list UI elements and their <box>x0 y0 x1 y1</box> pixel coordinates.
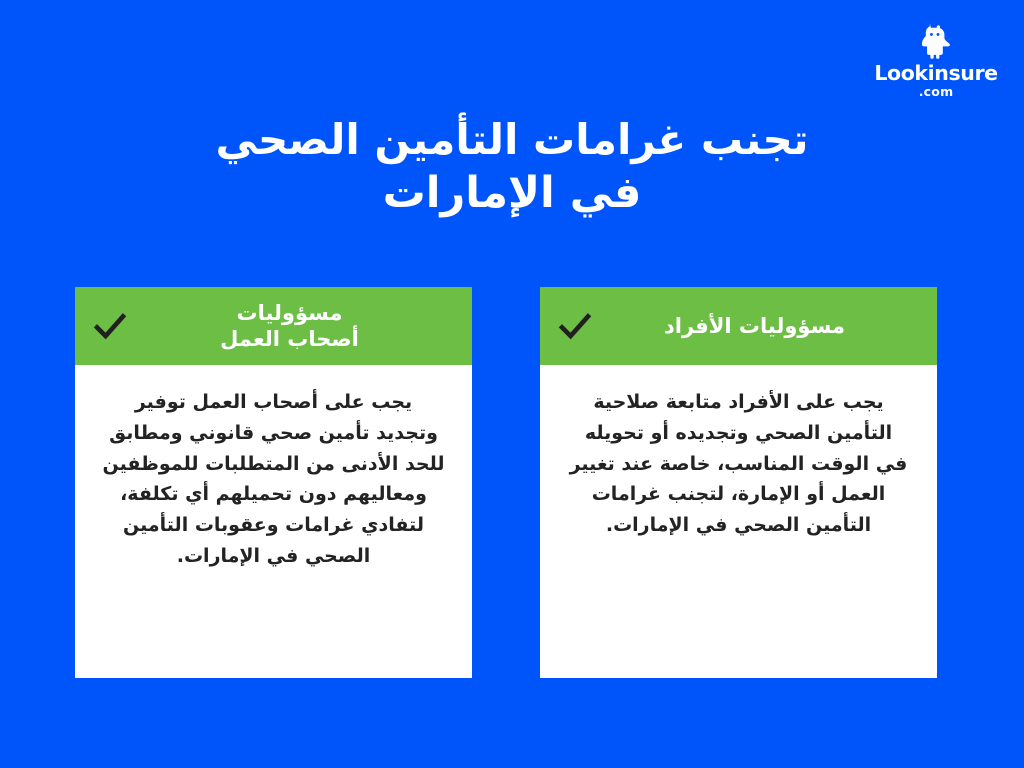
check-icon <box>93 309 127 343</box>
card-employers-body: يجب على أصحاب العمل توفير وتجديد تأمين ص… <box>75 365 472 678</box>
check-icon <box>558 309 592 343</box>
brand-logo[interactable]: Lookinsure .com <box>872 24 1000 98</box>
page-title: تجنب غرامات التأمين الصحي في الإمارات <box>0 116 1024 219</box>
page-title-line-2: في الإمارات <box>0 169 1024 219</box>
card-employers: مسؤوليات أصحاب العمل يجب على أصحاب العمل… <box>75 287 472 678</box>
card-individuals-body-text: يجب على الأفراد متابعة صلاحية التأمين ال… <box>566 387 911 541</box>
card-individuals-header: مسؤوليات الأفراد <box>540 287 937 365</box>
card-individuals-body: يجب على الأفراد متابعة صلاحية التأمين ال… <box>540 365 937 678</box>
owl-icon <box>919 24 953 60</box>
brand-wordmark: Lookinsure <box>874 63 997 84</box>
card-employers-title-line-2: أصحاب العمل <box>127 326 452 352</box>
page-title-line-1: تجنب غرامات التأمين الصحي <box>0 116 1024 165</box>
responsibility-cards: مسؤوليات الأفراد يجب على الأفراد متابعة … <box>75 287 937 678</box>
card-individuals-title-line-1: مسؤوليات الأفراد <box>592 313 917 339</box>
card-employers-title: مسؤوليات أصحاب العمل <box>127 300 458 353</box>
card-employers-header: مسؤوليات أصحاب العمل <box>75 287 472 365</box>
card-employers-body-text: يجب على أصحاب العمل توفير وتجديد تأمين ص… <box>101 387 446 572</box>
card-employers-title-line-1: مسؤوليات <box>127 300 452 326</box>
card-individuals-title: مسؤوليات الأفراد <box>592 313 923 339</box>
infographic-page: { "brand": { "logo_icon": "owl-icon", "w… <box>0 0 1024 768</box>
card-individuals: مسؤوليات الأفراد يجب على الأفراد متابعة … <box>540 287 937 678</box>
brand-tld: .com <box>919 86 954 99</box>
